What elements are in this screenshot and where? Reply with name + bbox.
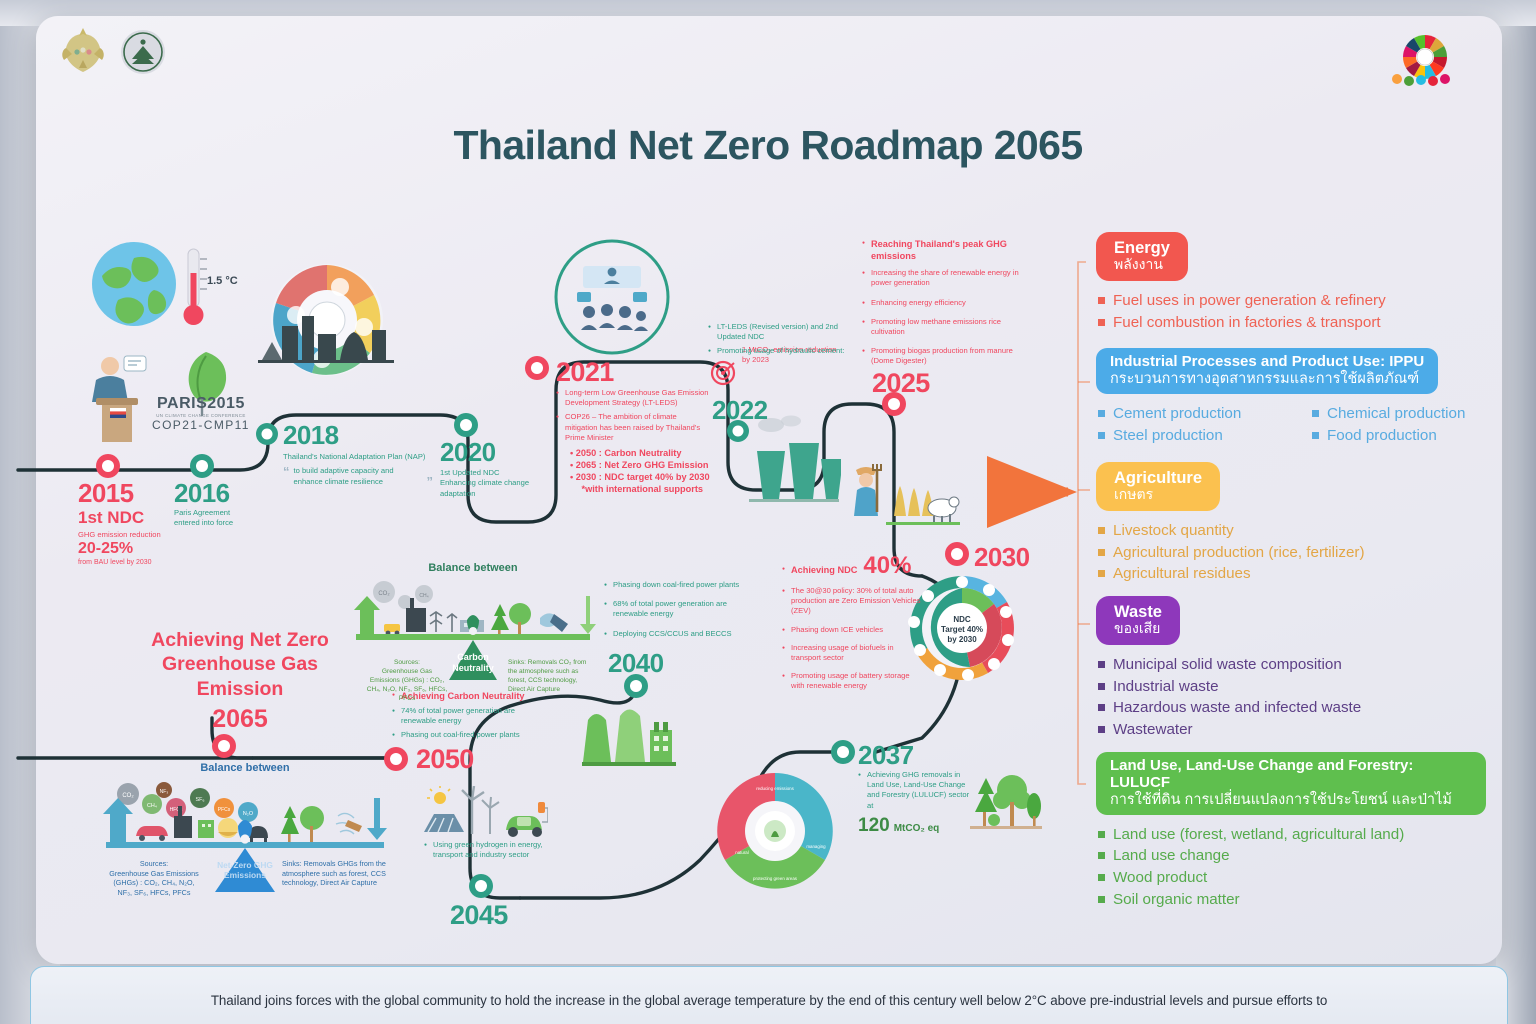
block-2025: Reaching Thailand's peak GHG emissions I…: [862, 238, 1027, 370]
quote-close-icon: ”: [427, 476, 434, 488]
year-2045: 2045: [450, 900, 508, 931]
block-2030-bullet-4: Promoting usage of battery storage with …: [782, 671, 922, 691]
sdg-wheel-logo: [1376, 24, 1474, 96]
list-item: Municipal solid waste composition: [1096, 654, 1361, 676]
year-2020: 2020: [440, 437, 495, 468]
block-2037-bullet-1: Achieving GHG removals in Land Use, Land…: [858, 770, 976, 811]
sector-energy[interactable]: Energy พลังงาน Fuel uses in power genera…: [1096, 232, 1386, 333]
block-2020-line2: Enhancing climate change: [440, 478, 560, 488]
block-2025-highlight: Reaching Thailand's peak GHG emissions: [862, 238, 1027, 262]
list-item: Wood product: [1096, 867, 1486, 889]
year-2037: 2037: [858, 740, 913, 771]
sector-ippu-title-th: กระบวนการทางอุตสาหกรรมและการใช้ผลิตภัณฑ์: [1110, 371, 1424, 387]
svg-text:N₂O: N₂O: [243, 811, 253, 817]
list-item: Cement production: [1096, 403, 1304, 425]
list-item: Hazardous waste and infected waste: [1096, 697, 1361, 719]
sector-ippu-pill: Industrial Processes and Product Use: IP…: [1096, 348, 1438, 394]
sector-energy-title-en: Energy: [1114, 239, 1170, 257]
svg-text:Target 40%: Target 40%: [941, 625, 983, 634]
block-2040-bullet-2: 68% of total power generation are renewa…: [604, 599, 754, 619]
page-title: Thailand Net Zero Roadmap 2065: [0, 122, 1536, 169]
svg-text:natural: natural: [735, 850, 748, 855]
block-2030-bullet-1: The 30@30 policy: 30% of total auto prod…: [782, 586, 922, 617]
forest-trees-illustration: [968, 756, 1044, 839]
list-item: Land use (forest, wetland, agricultural …: [1096, 824, 1486, 846]
sector-agriculture[interactable]: Agriculture เกษตร Livestock quantity Agr…: [1096, 462, 1365, 585]
year-2022: 2022: [712, 395, 767, 426]
block-2016-line1: Paris Agreement: [174, 508, 284, 518]
sector-ippu-title-en: Industrial Processes and Product Use: IP…: [1110, 354, 1424, 371]
block-2018-line: Thailand's National Adaptation Plan (NAP…: [283, 452, 433, 462]
svg-text:SF₆: SF₆: [195, 797, 204, 803]
power-plant-illustration: [745, 415, 841, 508]
sector-agriculture-pill: Agriculture เกษตร: [1096, 462, 1220, 511]
quote-open-icon: “: [283, 466, 290, 478]
list-item: Fuel uses in power generation & refinery: [1096, 290, 1386, 312]
sector-agriculture-title-en: Agriculture: [1114, 469, 1202, 487]
list-item: Chemical production: [1310, 403, 1496, 425]
onep-ministry-emblem-icon: [120, 29, 166, 75]
balance-carbon-caption: Balance between: [348, 562, 598, 574]
sector-ippu-items: Cement production Chemical production St…: [1096, 403, 1496, 446]
sector-waste-title-th: ของเสีย: [1114, 621, 1162, 637]
sector-lulucf-pill: Land Use, Land-Use Change and Forestry: …: [1096, 752, 1486, 815]
svg-text:NF₃: NF₃: [160, 789, 169, 795]
year-2065: 2065: [120, 705, 360, 734]
sector-waste-pill: Waste ของเสีย: [1096, 596, 1180, 645]
block-2030-bullet-2: Phasing down ICE vehicles: [782, 625, 922, 635]
list-item: Food production: [1310, 425, 1496, 447]
block-2021-bullet-1: Long-term Low Greenhouse Gas Emission De…: [556, 388, 711, 408]
block-2018: Thailand's National Adaptation Plan (NAP…: [283, 452, 433, 487]
paris-logo-line1: PARIS2015: [152, 395, 250, 413]
year-2040: 2040: [608, 648, 663, 679]
block-2021: Long-term Low Greenhouse Gas Emission De…: [556, 388, 711, 495]
block-2030-bullet-3: Increasing usage of biofuels in transpor…: [782, 643, 922, 663]
block-2050-bullet-1: 74% of total power generation are renewa…: [392, 706, 552, 726]
block-2040-bullet-1: Phasing down coal-fired power plants: [604, 580, 754, 590]
sector-agriculture-items: Livestock quantity Agricultural producti…: [1096, 520, 1365, 585]
sector-waste-title-en: Waste: [1114, 603, 1162, 621]
netzero-balance-diagram: Balance between CO₂ CH₄ HFCs SF₆ PFCs N₂…: [100, 762, 390, 898]
balance-carbon-sources: Sources:Greenhouse Gas Emissions (GHGs) …: [366, 659, 448, 703]
bottom-banner-text: Thailand joins forces with the global co…: [53, 993, 1485, 1008]
year-2030: 2030: [974, 542, 1029, 573]
list-item: Livestock quantity: [1096, 520, 1365, 542]
lulucf-circle-diagram: reducing emissions managing natural prot…: [712, 768, 838, 899]
balance-carbon-sinks: Sinks: Removals CO₂ from the atmosphere …: [508, 659, 596, 703]
year-2018: 2018: [283, 420, 338, 451]
year-2015: 2015: [78, 478, 133, 509]
block-2018-quote: to build adaptive capacity and enhance c…: [294, 466, 423, 487]
year-2016: 2016: [174, 478, 229, 509]
block-2025-bullet-4: Promoting biogas production from manure …: [862, 346, 1027, 366]
city-skyline-illustration: [256, 268, 398, 388]
block-2022: LT-LEDS (Revised version) and 2nd Update…: [708, 322, 858, 365]
sector-lulucf-title-th: การใช้ที่ดิน การเปลี่ยนแปลงการใช้ประโยชน…: [1110, 792, 1472, 808]
block-2015-big: 20-25%: [78, 540, 208, 558]
block-2037-big: 120: [858, 815, 890, 837]
svg-text:reducing emissions: reducing emissions: [756, 786, 794, 791]
sector-waste-items: Municipal solid waste composition Indust…: [1096, 654, 1361, 740]
block-2045: Using green hydrogen in energy, transpor…: [424, 840, 560, 864]
sector-energy-pill: Energy พลังงาน: [1096, 232, 1188, 281]
list-item: Industrial waste: [1096, 676, 1361, 698]
block-2016-line2: entered into force: [174, 518, 284, 528]
svg-text:by 2030: by 2030: [947, 635, 977, 644]
svg-text:CO₂: CO₂: [122, 793, 134, 799]
bottom-banner: Thailand joins forces with the global co…: [30, 966, 1508, 1024]
block-2030-highlight: Achieving NDC: [782, 564, 857, 576]
sector-ippu[interactable]: Industrial Processes and Product Use: IP…: [1096, 348, 1496, 446]
block-2015-footnote: from BAU level by 2030: [78, 558, 208, 568]
sector-waste[interactable]: Waste ของเสีย Municipal solid waste comp…: [1096, 596, 1361, 740]
temperature-value: 1.5 °C: [207, 275, 238, 287]
sector-energy-title-th: พลังงาน: [1114, 257, 1170, 273]
sector-lulucf-items: Land use (forest, wetland, agricultural …: [1096, 824, 1486, 910]
paris2015-logo: PARIS2015 UN CLIMATE CHANGE CONFERENCE C…: [152, 395, 250, 432]
block-2021-sub-3: • 2030 : NDC target 40% by 2030: [570, 471, 711, 483]
sector-lulucf-title-en: Land Use, Land-Use Change and Forestry: …: [1110, 758, 1472, 792]
sector-lulucf[interactable]: Land Use, Land-Use Change and Forestry: …: [1096, 752, 1486, 910]
list-item: Agricultural production (rice, fertilize…: [1096, 542, 1365, 564]
balance-netzero-center: Net-Zero GHG Emissions: [216, 860, 274, 880]
block-2015-line: GHG emission reduction: [78, 530, 208, 540]
block-2025-bullet-1: Increasing the share of renewable energy…: [862, 268, 1027, 288]
earth-globe-illustration: [88, 238, 180, 335]
list-item: Soil organic matter: [1096, 889, 1486, 911]
svg-text:PFCs: PFCs: [218, 807, 231, 813]
svg-text:protecting green areas: protecting green areas: [753, 876, 798, 881]
sector-agriculture-title-th: เกษตร: [1114, 487, 1202, 503]
balance-carbon-center: Carbon Neutrality: [446, 652, 500, 674]
list-item: Wastewater: [1096, 719, 1361, 741]
block-2021-footnote: *with international supports: [570, 483, 711, 495]
svg-text:CH₄: CH₄: [419, 593, 428, 599]
block-2020-line1: 1st Updated NDC: [440, 468, 560, 478]
block-2040-bullet-3: Deploying CCS/CCUS and BECCS: [604, 629, 754, 639]
list-item: Fuel combustion in factories & transport: [1096, 312, 1386, 334]
list-item: Land use change: [1096, 845, 1486, 867]
block-2050-bullet-2: Phasing out coal-fired power plants: [392, 730, 552, 740]
sector-energy-items: Fuel uses in power generation & refinery…: [1096, 290, 1386, 333]
royal-thai-garuda-emblem-icon: [60, 26, 106, 78]
year-2025: 2025: [872, 368, 930, 399]
coal-power-plant-illustration: [576, 698, 680, 779]
thermometer-illustration: 1.5 °C: [180, 245, 246, 340]
block-2016: Paris Agreement entered into force: [174, 508, 284, 529]
block-2037-big-unit: MtCO₂ eq: [894, 823, 940, 834]
speaker-podium-illustration: [84, 352, 154, 449]
year-2021: 2021: [556, 357, 614, 388]
block-2037: Achieving GHG removals in Land Use, Land…: [858, 770, 976, 837]
carbon-neutrality-balance-diagram: Balance between CO₂ CH₄ Sources:Greenhou…: [348, 562, 598, 703]
svg-text:NDC: NDC: [953, 615, 971, 624]
list-item: Agricultural residues: [1096, 563, 1365, 585]
block-2045-bullet-1: Using green hydrogen in energy, transpor…: [424, 840, 560, 860]
balance-netzero-sinks: Sinks: Removals GHGs from the atmosphere…: [282, 859, 390, 898]
block-2040: Phasing down coal-fired power plants 68%…: [604, 580, 754, 643]
block-2030-big: 40%: [863, 552, 911, 580]
balance-netzero-sources: Sources:Greenhouse Gas Emissions (GHGs) …: [106, 859, 202, 898]
block-2025-bullet-2: Enhancing energy efficiency: [862, 298, 1027, 308]
netzero-title: Achieving Net Zero Greenhouse Gas Emissi…: [120, 628, 360, 701]
list-item: Steel production: [1096, 425, 1304, 447]
block-2020: 1st Updated NDC Enhancing climate change…: [440, 468, 560, 499]
header-logos: [60, 26, 166, 78]
year-2050: 2050: [416, 744, 474, 775]
balance-netzero-caption: Balance between: [100, 762, 390, 774]
block-2025-bullet-3: Promoting low methane emissions rice cul…: [862, 317, 1027, 337]
block-2022-bullet-2: Promoting usage of hydraulic cement:: [708, 346, 858, 356]
block-2021-sub-1: • 2050 : Carbon Neutrality: [570, 447, 711, 459]
block-2022-bullet-1: LT-LEDS (Revised version) and 2nd Update…: [708, 322, 858, 342]
svg-text:managing: managing: [806, 844, 826, 849]
meeting-conference-illustration: [553, 238, 671, 361]
paris-logo-line2: COP21-CMP11: [152, 418, 250, 432]
block-2020-line3: adaptation: [440, 489, 560, 499]
svg-text:CH₄: CH₄: [147, 803, 157, 809]
block-2021-sub-2: • 2065 : Net Zero GHG Emission: [570, 459, 711, 471]
farmer-agriculture-illustration: [842, 450, 960, 539]
svg-text:CO₂: CO₂: [378, 591, 390, 597]
block-2021-bullet-2: COP26 – The ambition of climate mitigati…: [556, 412, 711, 443]
block-2030: Achieving NDC 40% The 30@30 policy: 30% …: [782, 552, 922, 695]
